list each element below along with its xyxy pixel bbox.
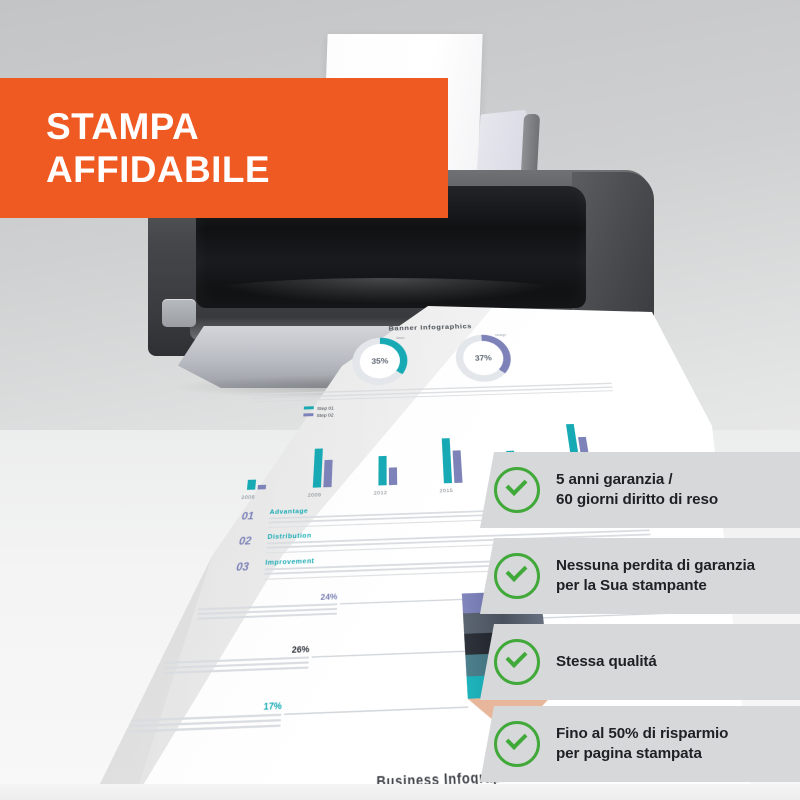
- bar-step-01: [378, 456, 386, 485]
- bar-group: 2006: [240, 488, 285, 489]
- feature-panel-1-line-1: 5 anni garanzia /: [556, 470, 718, 490]
- bar-step-01: [247, 479, 256, 489]
- donut-chart-1: 35% Basic: [352, 337, 408, 386]
- poster-canvas: Banner Infographics 35% Basic 37% Design…: [0, 0, 800, 800]
- funnel-leader-1: [340, 598, 462, 604]
- bar-group: 2009: [306, 486, 351, 487]
- step-number: 01: [241, 509, 261, 521]
- feature-panel-3-line-1: Stessa qualitá: [556, 652, 657, 672]
- bar-step-02: [389, 467, 397, 485]
- check-circle-icon: [494, 467, 540, 513]
- printer-power-button[interactable]: [162, 299, 196, 327]
- funnel-leader-2: [312, 650, 466, 657]
- donut-caption-2: Design: [495, 333, 506, 337]
- funnel-callout-3: 17%: [129, 701, 282, 735]
- feature-panel-2-line-1: Nessuna perdita di garanzia: [556, 556, 755, 576]
- bar-category-label: 2009: [308, 491, 322, 497]
- printer-lid-gloss: [210, 278, 562, 304]
- feature-panel-3[interactable]: Stessa qualitá: [480, 624, 800, 700]
- bar-category-label: 2012: [374, 489, 387, 495]
- bottom-band: [0, 784, 800, 800]
- donut-chart-group: 35% Basic 37% Design: [238, 331, 626, 389]
- legend-swatch-step-01: [304, 407, 314, 410]
- headline-line-2: AFFIDABILE: [46, 148, 448, 191]
- feature-panel-4-line-1: Fino al 50% di risparmio: [556, 724, 728, 744]
- bar-category-label: 2006: [241, 494, 255, 500]
- funnel-callout-2: 26%: [163, 645, 310, 676]
- feature-panel-1-text: 5 anni garanzia / 60 giorni diritto di r…: [556, 470, 718, 510]
- feature-panel-2-text: Nessuna perdita di garanzia per la Sua s…: [556, 556, 755, 596]
- bar-step-01: [442, 438, 452, 483]
- legend-label-step-01: Step 01: [317, 406, 334, 411]
- check-circle-icon: [494, 721, 540, 767]
- bar-step-01: [313, 449, 323, 488]
- check-circle-icon: [494, 639, 540, 685]
- donut-chart-2: 37% Design: [454, 334, 513, 383]
- bar-group: 2015: [437, 482, 481, 483]
- feature-panel-4[interactable]: Fino al 50% di risparmio per pagina stam…: [480, 706, 800, 782]
- bar-category-label: 2015: [439, 487, 453, 493]
- legend-label-step-02: Step 02: [317, 412, 334, 417]
- bar-step-02: [258, 484, 267, 489]
- donut-caption-1: Basic: [396, 336, 405, 340]
- feature-panel-2[interactable]: Nessuna perdita di garanzia per la Sua s…: [480, 538, 800, 614]
- step-number: 03: [236, 560, 257, 573]
- headline-banner: STAMPA AFFIDABILE: [0, 78, 448, 218]
- bar-group: 2012: [371, 484, 415, 485]
- feature-panel-2-line-2: per la Sua stampante: [556, 576, 755, 596]
- step-number: 02: [238, 534, 259, 547]
- check-circle-icon: [494, 553, 540, 599]
- funnel-leader-3: [284, 706, 468, 715]
- legend-swatch-step-02: [303, 413, 313, 416]
- feature-panel-3-text: Stessa qualitá: [556, 652, 657, 672]
- headline-line-1: STAMPA: [46, 105, 448, 148]
- feature-panel-4-text: Fino al 50% di risparmio per pagina stam…: [556, 724, 728, 764]
- feature-panel-1[interactable]: 5 anni garanzia / 60 giorni diritto di r…: [480, 452, 800, 528]
- bar-step-02: [453, 450, 463, 482]
- funnel-callout-1: 24%: [197, 592, 338, 621]
- bar-step-02: [323, 460, 332, 487]
- feature-panel-4-line-2: per pagina stampata: [556, 744, 728, 764]
- feature-panel-1-line-2: 60 giorni diritto di reso: [556, 490, 718, 510]
